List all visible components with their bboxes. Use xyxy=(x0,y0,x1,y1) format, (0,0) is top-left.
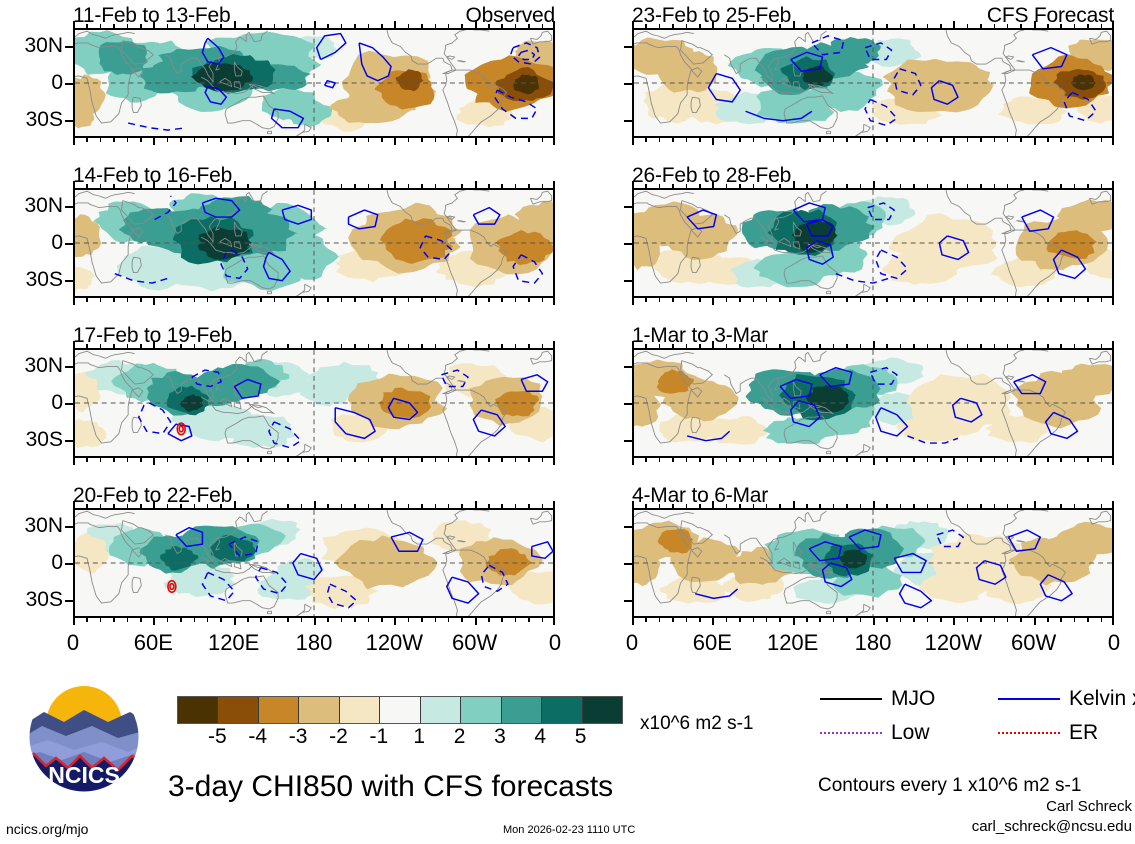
x-minor-tick xyxy=(408,344,410,350)
x-minor-tick xyxy=(1101,504,1103,510)
x-minor-tick xyxy=(220,184,222,190)
x-minor-tick xyxy=(113,296,115,302)
x-minor-tick xyxy=(287,456,289,462)
x-minor-tick xyxy=(435,24,437,30)
x-minor-tick xyxy=(927,136,929,142)
x-minor-tick xyxy=(766,184,768,190)
x-minor-tick xyxy=(220,344,222,350)
x-minor-tick xyxy=(686,616,688,622)
x-minor-tick xyxy=(435,456,437,462)
x-minor-tick xyxy=(448,136,450,142)
x-major-tick xyxy=(953,136,955,145)
x-minor-tick xyxy=(1101,184,1103,190)
x-minor-tick xyxy=(766,136,768,142)
x-minor-tick xyxy=(501,344,503,350)
x-minor-tick xyxy=(501,296,503,302)
y-major-tick xyxy=(65,280,75,282)
x-major-tick xyxy=(793,456,795,465)
x-minor-tick xyxy=(488,616,490,622)
x-minor-tick xyxy=(913,456,915,462)
x-minor-tick xyxy=(1007,456,1009,462)
x-minor-tick xyxy=(100,616,102,622)
x-minor-tick xyxy=(927,616,929,622)
x-minor-tick xyxy=(672,184,674,190)
x-major-tick xyxy=(793,181,795,190)
x-minor-tick xyxy=(167,456,169,462)
x-major-tick xyxy=(314,21,316,30)
x-minor-tick xyxy=(927,504,929,510)
y-major-tick xyxy=(65,526,75,528)
x-minor-tick xyxy=(806,136,808,142)
x-minor-tick xyxy=(368,296,370,302)
x-minor-tick xyxy=(779,456,781,462)
colorbar-swatch-6 xyxy=(421,697,461,723)
x-minor-tick xyxy=(726,344,728,350)
colorbar-units-label: x10^6 m2 s-1 xyxy=(640,714,753,733)
x-minor-tick xyxy=(435,504,437,510)
x-minor-tick xyxy=(408,136,410,142)
x-minor-tick xyxy=(659,504,661,510)
x-minor-tick xyxy=(726,616,728,622)
x-minor-tick xyxy=(967,24,969,30)
x-axis-label-left-180: 180 xyxy=(269,632,359,654)
x-minor-tick xyxy=(542,136,544,142)
x-minor-tick xyxy=(247,456,249,462)
x-axis-label-right-0: 0 xyxy=(587,632,677,654)
x-minor-tick xyxy=(980,344,982,350)
x-minor-tick xyxy=(515,296,517,302)
y-major-tick xyxy=(624,46,634,48)
x-minor-tick xyxy=(247,504,249,510)
x-minor-tick xyxy=(726,296,728,302)
y-axis-label-0: 0 xyxy=(1,392,63,413)
x-minor-tick xyxy=(461,504,463,510)
x-minor-tick xyxy=(461,616,463,622)
x-major-tick xyxy=(553,296,555,305)
x-minor-tick xyxy=(967,616,969,622)
x-major-tick xyxy=(953,456,955,465)
x-minor-tick xyxy=(542,344,544,350)
x-minor-tick xyxy=(167,296,169,302)
x-minor-tick xyxy=(408,456,410,462)
x-minor-tick xyxy=(753,504,755,510)
map-field-obs-2 xyxy=(75,190,553,296)
x-minor-tick xyxy=(488,504,490,510)
x-major-tick xyxy=(553,341,555,350)
x-minor-tick xyxy=(381,456,383,462)
colorbar-swatch-7 xyxy=(461,697,501,723)
x-minor-tick xyxy=(140,456,142,462)
x-minor-tick xyxy=(515,616,517,622)
x-minor-tick xyxy=(140,184,142,190)
map-field-fcs-4 xyxy=(634,510,1112,616)
x-major-tick xyxy=(1034,21,1036,30)
x-minor-tick xyxy=(247,296,249,302)
y-axis-label-0: 0 xyxy=(1,232,63,253)
x-minor-tick xyxy=(1007,344,1009,350)
x-minor-tick xyxy=(220,24,222,30)
x-minor-tick xyxy=(140,344,142,350)
x-minor-tick xyxy=(1101,344,1103,350)
x-minor-tick xyxy=(940,344,942,350)
x-minor-tick xyxy=(686,296,688,302)
x-minor-tick xyxy=(86,504,88,510)
x-minor-tick xyxy=(421,136,423,142)
x-minor-tick xyxy=(448,616,450,622)
x-major-tick xyxy=(1034,456,1036,465)
x-minor-tick xyxy=(900,344,902,350)
x-minor-tick xyxy=(1087,616,1089,622)
x-minor-tick xyxy=(726,136,728,142)
x-major-tick xyxy=(1112,136,1114,145)
x-minor-tick xyxy=(488,24,490,30)
x-minor-tick xyxy=(940,136,942,142)
x-major-tick xyxy=(953,21,955,30)
x-minor-tick xyxy=(994,136,996,142)
x-minor-tick xyxy=(194,456,196,462)
x-minor-tick xyxy=(659,136,661,142)
x-minor-tick xyxy=(341,184,343,190)
x-major-tick xyxy=(1112,501,1114,510)
y-major-tick xyxy=(65,243,75,245)
x-major-tick xyxy=(394,501,396,510)
x-minor-tick xyxy=(779,504,781,510)
x-minor-tick xyxy=(327,616,329,622)
x-minor-tick xyxy=(501,136,503,142)
x-minor-tick xyxy=(542,296,544,302)
x-minor-tick xyxy=(819,24,821,30)
panel-title-fcs-3: 1-Mar to 3-Mar xyxy=(632,325,768,346)
y-major-tick xyxy=(624,120,634,122)
x-minor-tick xyxy=(1087,344,1089,350)
x-minor-tick xyxy=(528,136,530,142)
x-major-tick xyxy=(153,296,155,305)
x-major-tick xyxy=(1034,341,1036,350)
x-minor-tick xyxy=(967,184,969,190)
x-minor-tick xyxy=(994,456,996,462)
x-minor-tick xyxy=(100,24,102,30)
x-axis-label-left-120W: 120W xyxy=(349,632,439,654)
x-major-tick xyxy=(314,456,316,465)
x-major-tick xyxy=(953,181,955,190)
y-axis-label-30N: 30N xyxy=(1,355,63,376)
x-minor-tick xyxy=(686,504,688,510)
contour-interval-note: Contours every 1 x10^6 m2 s-1 xyxy=(818,776,1081,795)
x-minor-tick xyxy=(833,136,835,142)
x-minor-tick xyxy=(927,456,929,462)
x-minor-tick xyxy=(274,616,276,622)
legend-label: Kelvin x2 xyxy=(1069,688,1135,709)
x-major-tick xyxy=(953,501,955,510)
x-minor-tick xyxy=(686,456,688,462)
x-minor-tick xyxy=(461,136,463,142)
x-minor-tick xyxy=(819,296,821,302)
x-minor-tick xyxy=(86,24,88,30)
x-minor-tick xyxy=(528,344,530,350)
x-minor-tick xyxy=(900,456,902,462)
x-minor-tick xyxy=(542,24,544,30)
x-minor-tick xyxy=(194,296,196,302)
x-minor-tick xyxy=(967,136,969,142)
x-minor-tick xyxy=(766,616,768,622)
y-axis-label-0: 0 xyxy=(1,72,63,93)
x-minor-tick xyxy=(672,504,674,510)
x-minor-tick xyxy=(1007,184,1009,190)
x-minor-tick xyxy=(699,136,701,142)
x-minor-tick xyxy=(301,24,303,30)
x-major-tick xyxy=(1112,21,1114,30)
x-major-tick xyxy=(873,501,875,510)
x-minor-tick xyxy=(900,616,902,622)
x-minor-tick xyxy=(488,296,490,302)
x-minor-tick xyxy=(1007,296,1009,302)
x-minor-tick xyxy=(753,456,755,462)
x-major-tick xyxy=(793,296,795,305)
x-minor-tick xyxy=(327,136,329,142)
x-major-tick xyxy=(712,136,714,145)
x-minor-tick xyxy=(341,456,343,462)
x-minor-tick xyxy=(967,504,969,510)
x-minor-tick xyxy=(726,184,728,190)
x-major-tick xyxy=(953,341,955,350)
x-axis-label-right-60W: 60W xyxy=(989,632,1079,654)
x-minor-tick xyxy=(354,24,356,30)
x-minor-tick xyxy=(672,136,674,142)
x-minor-tick xyxy=(408,24,410,30)
x-minor-tick xyxy=(528,296,530,302)
colorbar-swatch-2 xyxy=(259,697,299,723)
x-minor-tick xyxy=(994,24,996,30)
x-minor-tick xyxy=(806,456,808,462)
legend-item-mjo: MJO xyxy=(820,688,935,709)
map-frame-obs-1 xyxy=(73,28,555,138)
x-major-tick xyxy=(553,21,555,30)
x-minor-tick xyxy=(1020,296,1022,302)
x-major-tick xyxy=(1034,181,1036,190)
x-minor-tick xyxy=(980,296,982,302)
map-field-fcs-1 xyxy=(634,30,1112,136)
x-axis-label-right-60E: 60E xyxy=(667,632,757,654)
x-minor-tick xyxy=(860,456,862,462)
y-major-tick xyxy=(624,243,634,245)
x-major-tick xyxy=(873,616,875,625)
x-minor-tick xyxy=(913,296,915,302)
x-major-tick xyxy=(394,616,396,625)
x-major-tick xyxy=(873,456,875,465)
x-major-tick xyxy=(953,616,955,625)
x-minor-tick xyxy=(421,616,423,622)
x-minor-tick xyxy=(1074,616,1076,622)
panel-fcs-2: 26-Feb to 28-Feb xyxy=(632,188,1114,298)
x-minor-tick xyxy=(645,24,647,30)
y-major-tick xyxy=(624,563,634,565)
x-minor-tick xyxy=(860,296,862,302)
colorbar-swatch-0 xyxy=(178,697,218,723)
x-minor-tick xyxy=(113,456,115,462)
x-minor-tick xyxy=(739,296,741,302)
x-minor-tick xyxy=(1087,136,1089,142)
x-minor-tick xyxy=(287,344,289,350)
x-minor-tick xyxy=(435,616,437,622)
x-major-tick xyxy=(632,501,634,510)
map-frame-fcs-2 xyxy=(632,188,1114,298)
x-minor-tick xyxy=(779,136,781,142)
x-minor-tick xyxy=(167,616,169,622)
x-minor-tick xyxy=(260,344,262,350)
x-minor-tick xyxy=(1007,136,1009,142)
x-minor-tick xyxy=(846,296,848,302)
y-axis-label-30S: 30S xyxy=(1,429,63,450)
x-minor-tick xyxy=(833,296,835,302)
x-minor-tick xyxy=(980,456,982,462)
x-minor-tick xyxy=(994,504,996,510)
x-minor-tick xyxy=(1047,344,1049,350)
x-minor-tick xyxy=(421,456,423,462)
panel-obs-4: 20-Feb to 22-Feb xyxy=(73,508,555,618)
site-url[interactable]: ncics.org/mjo xyxy=(6,822,88,836)
x-minor-tick xyxy=(1020,24,1022,30)
x-minor-tick xyxy=(301,184,303,190)
x-major-tick xyxy=(873,341,875,350)
x-major-tick xyxy=(712,296,714,305)
x-minor-tick xyxy=(980,184,982,190)
x-axis-label-right-0: 0 xyxy=(1069,632,1135,654)
y-major-tick xyxy=(624,83,634,85)
x-minor-tick xyxy=(127,184,129,190)
x-minor-tick xyxy=(301,504,303,510)
x-major-tick xyxy=(553,456,555,465)
x-minor-tick xyxy=(645,344,647,350)
x-minor-tick xyxy=(645,616,647,622)
x-minor-tick xyxy=(819,344,821,350)
panel-title-obs-1: 11-Feb to 13-Feb xyxy=(73,5,231,26)
x-minor-tick xyxy=(461,184,463,190)
wave-legend: MJOKelvin x2LowER xyxy=(820,688,1120,750)
x-minor-tick xyxy=(180,616,182,622)
x-minor-tick xyxy=(672,296,674,302)
chi850-figure: 11-Feb to 13-FebObserved14-Feb to 16-Feb… xyxy=(0,0,1135,844)
x-minor-tick xyxy=(659,184,661,190)
x-minor-tick xyxy=(726,456,728,462)
x-minor-tick xyxy=(753,184,755,190)
x-minor-tick xyxy=(515,456,517,462)
x-minor-tick xyxy=(766,504,768,510)
y-axis-label-30S: 30S xyxy=(1,109,63,130)
x-minor-tick xyxy=(354,456,356,462)
x-minor-tick xyxy=(207,504,209,510)
x-minor-tick xyxy=(542,456,544,462)
x-minor-tick xyxy=(274,504,276,510)
x-minor-tick xyxy=(194,184,196,190)
x-minor-tick xyxy=(672,456,674,462)
x-major-tick xyxy=(793,21,795,30)
x-minor-tick xyxy=(448,456,450,462)
x-minor-tick xyxy=(368,616,370,622)
x-minor-tick xyxy=(381,344,383,350)
x-minor-tick xyxy=(301,616,303,622)
x-minor-tick xyxy=(448,344,450,350)
x-axis-label-right-120W: 120W xyxy=(908,632,998,654)
x-minor-tick xyxy=(1007,24,1009,30)
colorbar-swatch-10 xyxy=(583,697,622,723)
map-frame-obs-4 xyxy=(73,508,555,618)
x-minor-tick xyxy=(1047,24,1049,30)
x-minor-tick xyxy=(408,504,410,510)
x-minor-tick xyxy=(515,24,517,30)
x-minor-tick xyxy=(699,504,701,510)
panel-obs-1: 11-Feb to 13-FebObserved xyxy=(73,28,555,138)
x-minor-tick xyxy=(100,136,102,142)
x-major-tick xyxy=(712,456,714,465)
x-minor-tick xyxy=(515,344,517,350)
x-minor-tick xyxy=(819,456,821,462)
x-minor-tick xyxy=(1020,456,1022,462)
x-minor-tick xyxy=(1020,504,1022,510)
x-minor-tick xyxy=(207,616,209,622)
x-minor-tick xyxy=(686,136,688,142)
x-minor-tick xyxy=(739,504,741,510)
x-minor-tick xyxy=(846,456,848,462)
x-minor-tick xyxy=(113,24,115,30)
x-major-tick xyxy=(1034,616,1036,625)
x-minor-tick xyxy=(659,24,661,30)
x-minor-tick xyxy=(354,136,356,142)
x-minor-tick xyxy=(726,24,728,30)
x-minor-tick xyxy=(127,456,129,462)
x-minor-tick xyxy=(354,616,356,622)
x-minor-tick xyxy=(113,136,115,142)
x-minor-tick xyxy=(806,344,808,350)
x-minor-tick xyxy=(408,184,410,190)
x-minor-tick xyxy=(368,344,370,350)
x-minor-tick xyxy=(528,184,530,190)
x-minor-tick xyxy=(1047,136,1049,142)
legend-swatch-dotted xyxy=(998,732,1060,734)
x-minor-tick xyxy=(1060,456,1062,462)
x-minor-tick xyxy=(886,616,888,622)
x-minor-tick xyxy=(368,24,370,30)
x-minor-tick xyxy=(260,136,262,142)
x-minor-tick xyxy=(341,504,343,510)
x-minor-tick xyxy=(766,456,768,462)
x-minor-tick xyxy=(167,24,169,30)
x-minor-tick xyxy=(779,24,781,30)
x-major-tick xyxy=(234,296,236,305)
x-minor-tick xyxy=(247,136,249,142)
x-major-tick xyxy=(475,501,477,510)
x-minor-tick xyxy=(127,616,129,622)
x-minor-tick xyxy=(1047,296,1049,302)
map-frame-fcs-1 xyxy=(632,28,1114,138)
x-axis-label-left-0: 0 xyxy=(28,632,118,654)
x-minor-tick xyxy=(940,296,942,302)
legend-swatch-dotted xyxy=(820,732,882,734)
x-minor-tick xyxy=(528,504,530,510)
x-minor-tick xyxy=(1074,504,1076,510)
x-minor-tick xyxy=(1060,24,1062,30)
x-minor-tick xyxy=(1087,504,1089,510)
x-minor-tick xyxy=(900,24,902,30)
x-minor-tick xyxy=(886,136,888,142)
x-minor-tick xyxy=(994,296,996,302)
x-major-tick xyxy=(553,181,555,190)
x-major-tick xyxy=(632,456,634,465)
colorbar-swatch-1 xyxy=(218,697,258,723)
ncics-logo-graphic: NCICS xyxy=(22,682,147,792)
x-minor-tick xyxy=(833,184,835,190)
x-minor-tick xyxy=(180,456,182,462)
x-minor-tick xyxy=(100,344,102,350)
